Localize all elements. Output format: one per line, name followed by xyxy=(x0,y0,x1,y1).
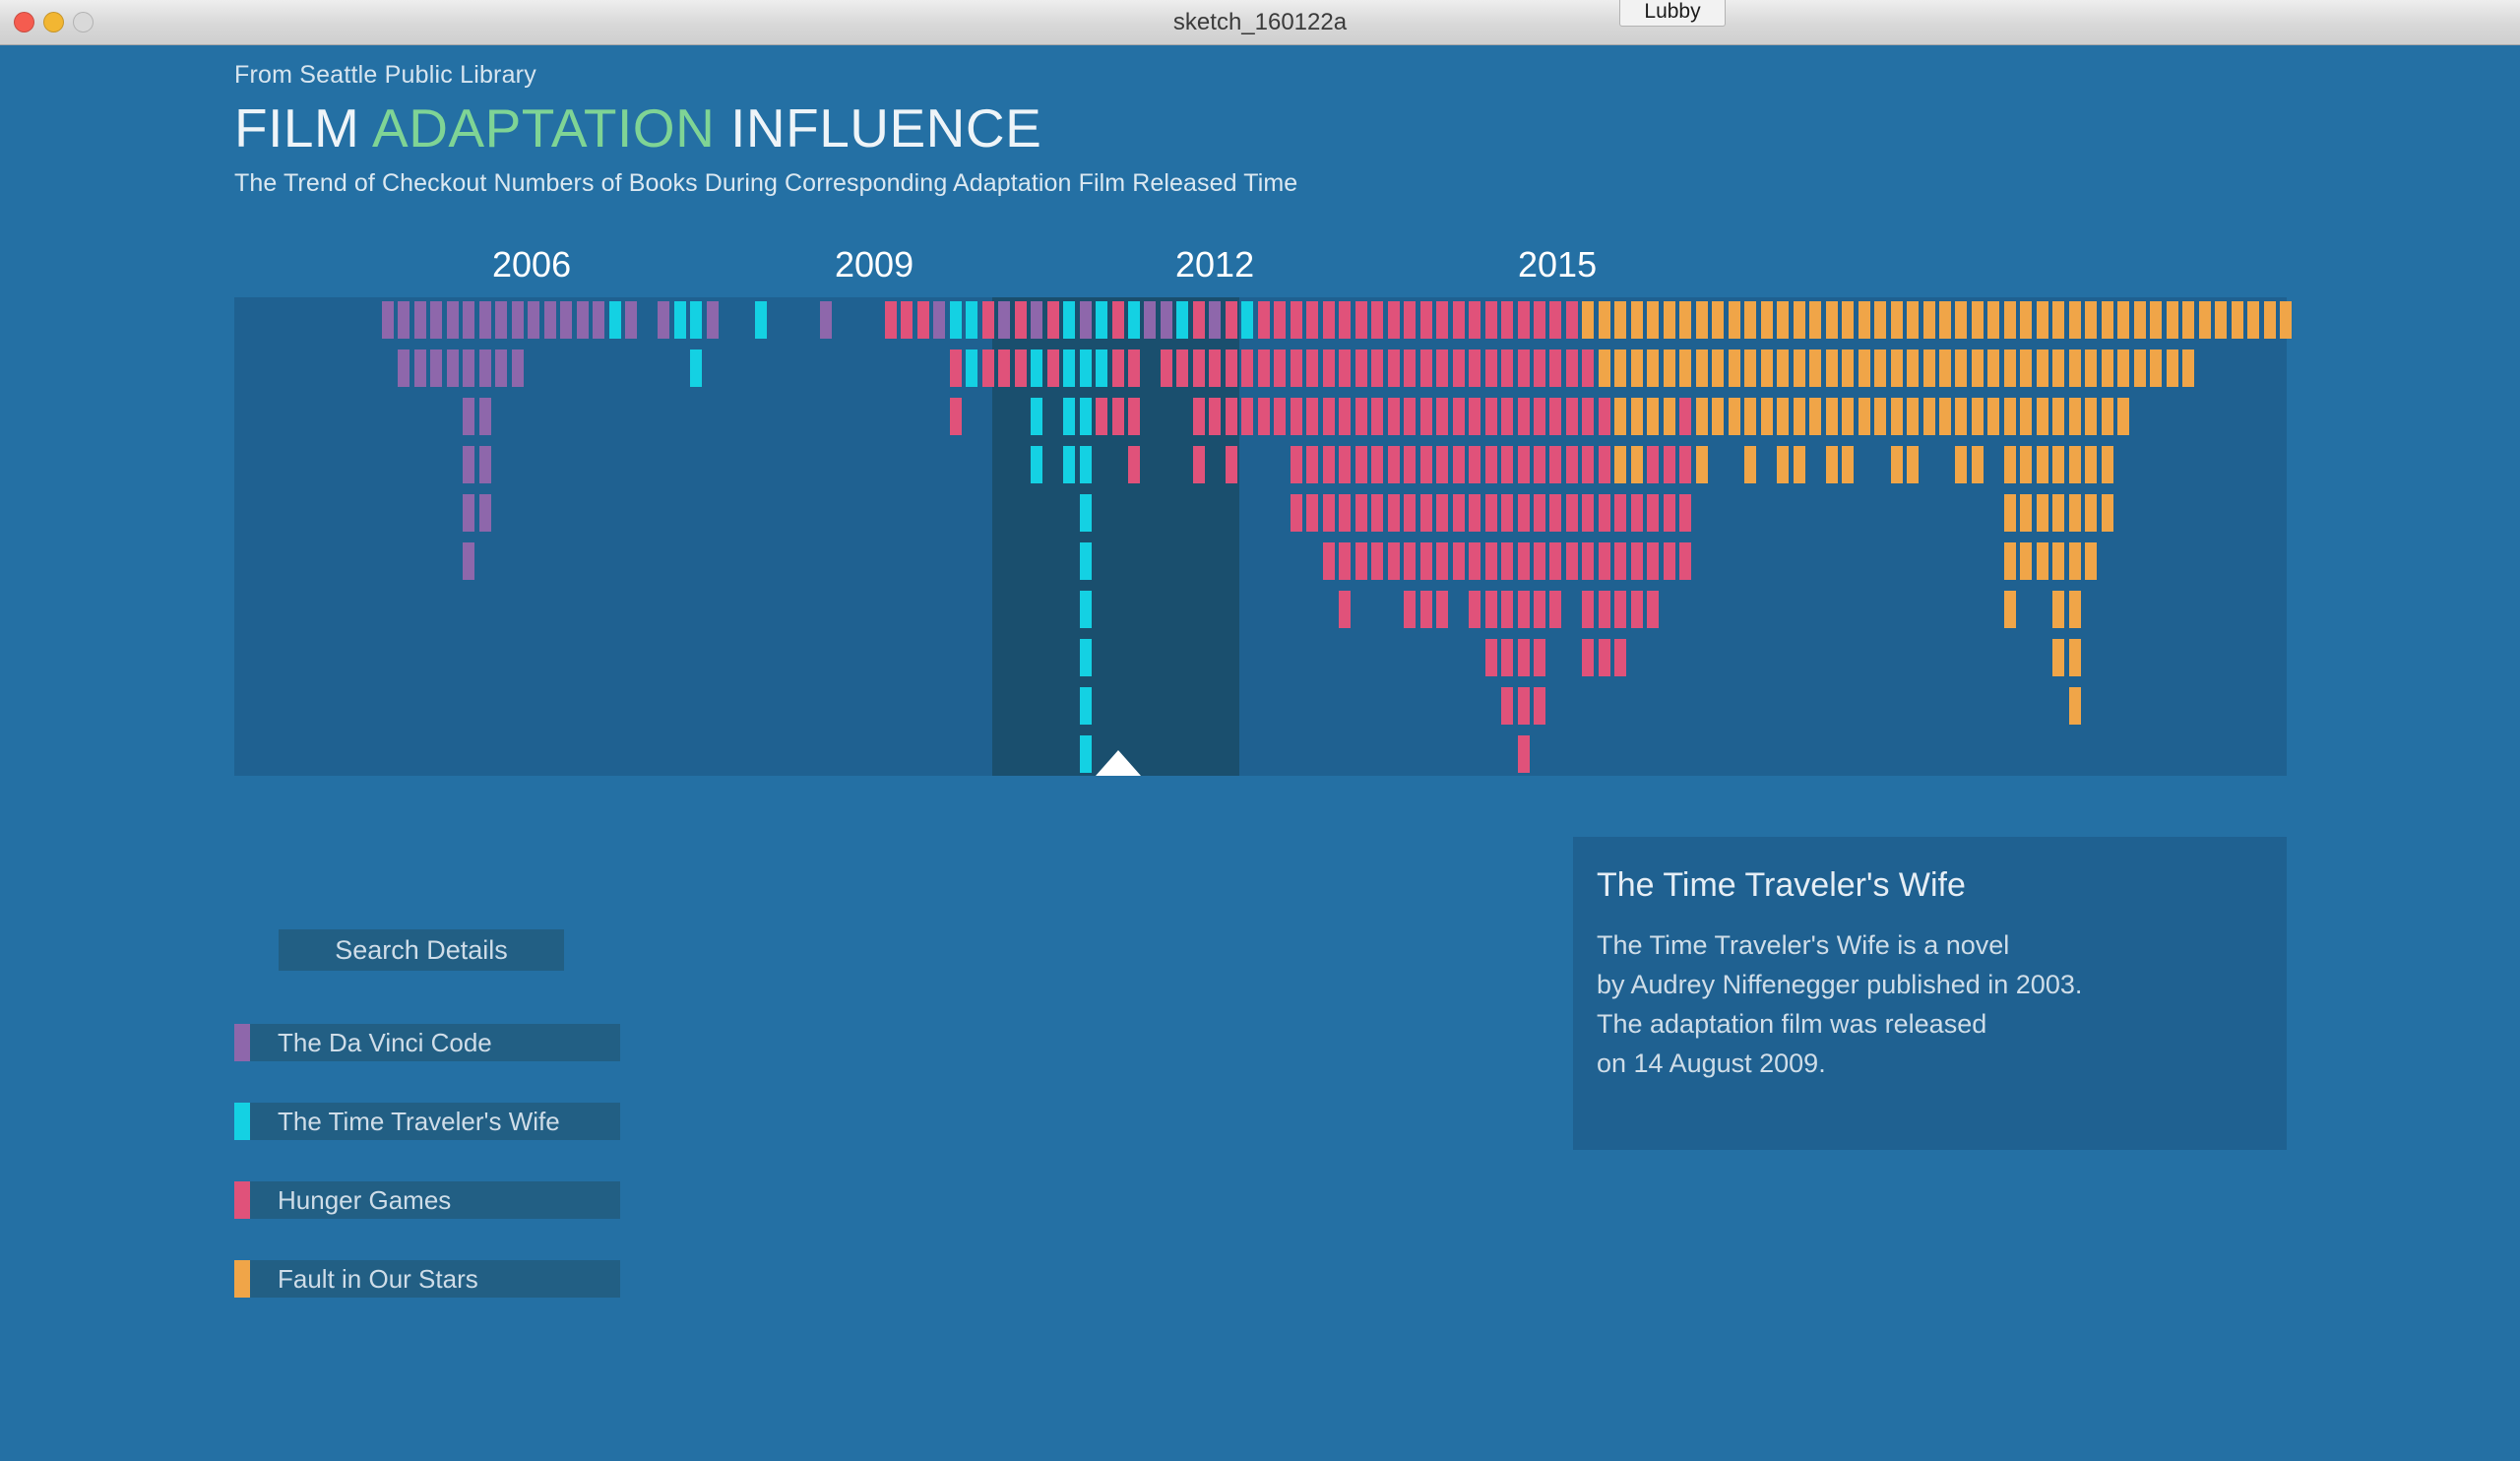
bar-segment xyxy=(1842,301,1854,339)
bar-segment xyxy=(1080,542,1092,580)
search-details-button[interactable]: Search Details xyxy=(279,929,564,971)
bar-segment xyxy=(1647,301,1659,339)
bar-segment xyxy=(1080,735,1092,773)
bar-segment xyxy=(1664,542,1675,580)
bar-segment xyxy=(1193,301,1205,339)
bar-segment xyxy=(1631,349,1643,387)
year-tick-2015: 2015 xyxy=(1518,244,1597,286)
bar-segment xyxy=(1274,398,1286,435)
bar-segment xyxy=(1647,542,1659,580)
bar-segment xyxy=(690,301,702,339)
bar-segment xyxy=(1339,349,1351,387)
bar-segment xyxy=(1582,301,1594,339)
bar-segment xyxy=(1582,494,1594,532)
bar-segment xyxy=(1614,639,1626,676)
bar-segment xyxy=(1842,446,1854,483)
bar-segment xyxy=(447,349,459,387)
bar-segment xyxy=(1972,301,1984,339)
bar-segment xyxy=(1404,542,1416,580)
bar-segment xyxy=(1518,398,1530,435)
bar-segment xyxy=(1647,446,1659,483)
bar-segment xyxy=(2117,301,2129,339)
bar-segment xyxy=(1534,398,1545,435)
bar-segment xyxy=(1436,591,1448,628)
bar-segment xyxy=(1323,301,1335,339)
book-info-body: The Time Traveler's Wife is a novel by A… xyxy=(1597,925,2082,1083)
bar-segment xyxy=(1729,398,1740,435)
bar-segment xyxy=(1744,398,1756,435)
bar-segment xyxy=(1518,639,1530,676)
bar-segment xyxy=(1485,639,1497,676)
bar-segment xyxy=(1485,398,1497,435)
bar-segment xyxy=(1404,398,1416,435)
bar-segment xyxy=(1209,349,1221,387)
bar-segment xyxy=(1972,349,1984,387)
bar-segment xyxy=(1469,349,1480,387)
bar-segment xyxy=(1777,301,1789,339)
bar-segment xyxy=(1404,301,1416,339)
page-subtitle: The Trend of Checkout Numbers of Books D… xyxy=(234,169,1297,198)
bar-segment xyxy=(901,301,913,339)
bar-segment xyxy=(1549,494,1561,532)
bar-segment xyxy=(2069,349,2081,387)
bar-segment xyxy=(1647,591,1659,628)
bar-segment xyxy=(382,301,394,339)
bar-segment xyxy=(1306,494,1318,532)
bar-segment xyxy=(1582,398,1594,435)
bar-segment xyxy=(1599,446,1610,483)
bar-segment xyxy=(1534,301,1545,339)
legend-item-hunger-games[interactable]: Hunger Games xyxy=(234,1181,628,1219)
bar-segment xyxy=(1987,301,1999,339)
bar-segment xyxy=(1388,301,1400,339)
bar-segment xyxy=(1761,301,1773,339)
bar-segment xyxy=(1404,446,1416,483)
bar-segment xyxy=(982,301,994,339)
bar-segment xyxy=(1209,398,1221,435)
bar-segment xyxy=(1420,591,1432,628)
bar-segment xyxy=(1323,398,1335,435)
bar-segment xyxy=(1777,446,1789,483)
bar-segment xyxy=(1566,301,1578,339)
bar-segment xyxy=(1031,349,1042,387)
bar-segment xyxy=(1566,398,1578,435)
bar-segment xyxy=(1858,349,1870,387)
bar-segment xyxy=(950,398,962,435)
bar-segment xyxy=(414,301,426,339)
bar-segment xyxy=(414,349,426,387)
bar-segment xyxy=(2117,398,2129,435)
page-header: From Seattle Public Library FILM ADAPTAT… xyxy=(234,61,1297,198)
bar-segment xyxy=(1939,349,1951,387)
legend-item-da-vinci-code[interactable]: The Da Vinci Code xyxy=(234,1024,628,1061)
bar-segment xyxy=(2102,301,2113,339)
bar-segment xyxy=(2004,542,2016,580)
bar-segment xyxy=(495,349,507,387)
legend-swatch-time-travelers-wife xyxy=(234,1103,250,1140)
legend-label-da-vinci-code: The Da Vinci Code xyxy=(278,1024,492,1061)
bar-segment xyxy=(1436,494,1448,532)
bar-segment xyxy=(1226,446,1237,483)
bar-segment xyxy=(1907,301,1919,339)
bar-segment xyxy=(1388,349,1400,387)
bar-segment xyxy=(1453,349,1465,387)
bar-segment xyxy=(1939,301,1951,339)
bar-segment xyxy=(1647,494,1659,532)
bar-segment xyxy=(1972,446,1984,483)
bar-segment xyxy=(2085,301,2097,339)
bar-segment xyxy=(1485,494,1497,532)
bar-segment xyxy=(447,301,459,339)
bar-segment xyxy=(1826,398,1838,435)
bar-segment xyxy=(430,301,442,339)
bar-segment xyxy=(2150,301,2162,339)
bar-segment xyxy=(1631,398,1643,435)
bar-segment xyxy=(2052,639,2064,676)
bar-segment xyxy=(1549,542,1561,580)
bar-segment xyxy=(1112,349,1124,387)
bar-segment xyxy=(1015,349,1027,387)
bar-segment xyxy=(1063,301,1075,339)
bar-segment xyxy=(1469,591,1480,628)
bar-segment xyxy=(1955,446,1967,483)
bar-segment xyxy=(1858,398,1870,435)
bar-segment xyxy=(1534,687,1545,725)
bar-segment xyxy=(1664,349,1675,387)
bar-segment xyxy=(933,301,945,339)
bar-segment xyxy=(658,301,669,339)
bar-segment xyxy=(1534,639,1545,676)
bar-segment xyxy=(1549,591,1561,628)
bar-segment xyxy=(1696,446,1708,483)
selection-marker-triangle xyxy=(1096,750,1141,776)
bar-segment xyxy=(1339,494,1351,532)
bar-segment xyxy=(1306,301,1318,339)
bar-segment xyxy=(479,494,491,532)
bar-segment xyxy=(1339,446,1351,483)
bar-segment xyxy=(1566,446,1578,483)
bar-segment xyxy=(2280,301,2292,339)
bar-segment xyxy=(1404,591,1416,628)
bar-segment xyxy=(1291,398,1302,435)
bar-segment xyxy=(1420,301,1432,339)
bar-segment xyxy=(1063,349,1075,387)
bar-segment xyxy=(463,446,474,483)
bar-segment xyxy=(1549,446,1561,483)
bar-segment xyxy=(1112,398,1124,435)
bar-segment xyxy=(2052,301,2064,339)
bar-segment xyxy=(1809,301,1821,339)
bar-segment xyxy=(1582,542,1594,580)
bar-segment xyxy=(1744,446,1756,483)
bar-segment xyxy=(1891,349,1903,387)
bar-segment xyxy=(1453,446,1465,483)
bar-segment xyxy=(625,301,637,339)
bar-segment xyxy=(2052,349,2064,387)
bar-segment xyxy=(1501,301,1513,339)
bar-segment xyxy=(1907,349,1919,387)
bar-segment xyxy=(1388,446,1400,483)
bar-segment xyxy=(1549,349,1561,387)
bar-segment xyxy=(1096,349,1107,387)
bar-segment xyxy=(1518,735,1530,773)
bar-segment xyxy=(1549,301,1561,339)
bar-segment xyxy=(1907,446,1919,483)
bar-segment xyxy=(1420,349,1432,387)
bar-segment xyxy=(2020,542,2032,580)
bar-segment xyxy=(1614,398,1626,435)
bar-segment xyxy=(1664,446,1675,483)
bar-segment xyxy=(560,301,572,339)
bar-segment xyxy=(1518,591,1530,628)
bar-segment xyxy=(1420,542,1432,580)
bar-segment xyxy=(1080,591,1092,628)
title-part-2: INFLUENCE xyxy=(715,97,1041,159)
bar-segment xyxy=(1599,591,1610,628)
bar-segment xyxy=(1080,639,1092,676)
title-accent: ADAPTATION xyxy=(372,97,715,159)
bar-segment xyxy=(1209,301,1221,339)
bar-segment xyxy=(512,349,524,387)
bar-segment xyxy=(2069,591,2081,628)
bar-segment xyxy=(1485,301,1497,339)
bar-segment xyxy=(1631,591,1643,628)
bar-segment xyxy=(1469,494,1480,532)
bar-segment xyxy=(2182,349,2194,387)
bar-segment xyxy=(1306,349,1318,387)
bar-segment xyxy=(1306,446,1318,483)
bar-segment xyxy=(1955,301,1967,339)
bar-segment xyxy=(1858,301,1870,339)
bar-segment xyxy=(1485,446,1497,483)
bar-segment xyxy=(463,542,474,580)
bar-segment xyxy=(1874,349,1886,387)
legend-swatch-da-vinci-code xyxy=(234,1024,250,1061)
bar-segment xyxy=(1128,398,1140,435)
bar-segment xyxy=(2134,349,2146,387)
bar-segment xyxy=(2020,494,2032,532)
bar-segment xyxy=(950,349,962,387)
bar-segment xyxy=(2102,494,2113,532)
bar-segment xyxy=(1226,301,1237,339)
bar-segment xyxy=(1679,542,1691,580)
bar-segment xyxy=(1955,349,1967,387)
bar-segment xyxy=(1761,398,1773,435)
bar-segment xyxy=(1258,301,1270,339)
bar-segment xyxy=(998,301,1010,339)
bar-segment xyxy=(1534,446,1545,483)
bar-segment xyxy=(2085,494,2097,532)
bar-segment xyxy=(1193,446,1205,483)
bar-segment xyxy=(1534,494,1545,532)
bar-segment xyxy=(1826,301,1838,339)
bar-segment xyxy=(1096,398,1107,435)
bar-segment xyxy=(1972,398,1984,435)
bar-segment xyxy=(2134,301,2146,339)
bar-segment xyxy=(1161,301,1172,339)
bar-segment xyxy=(1501,446,1513,483)
bar-segment xyxy=(1436,398,1448,435)
bar-segment xyxy=(998,349,1010,387)
bar-segment xyxy=(1144,301,1156,339)
bar-segment xyxy=(1566,494,1578,532)
legend-swatch-fault-in-our-stars xyxy=(234,1260,250,1298)
bar-segment xyxy=(1566,349,1578,387)
lubby-tab[interactable]: Lubby xyxy=(1619,0,1726,27)
bar-segment xyxy=(1891,398,1903,435)
bar-segment xyxy=(1534,542,1545,580)
bar-segment xyxy=(1631,542,1643,580)
bar-segment xyxy=(1355,398,1367,435)
bar-segment xyxy=(1485,349,1497,387)
bar-segment xyxy=(1323,349,1335,387)
bar-segment xyxy=(1712,398,1724,435)
bar-segment xyxy=(1128,446,1140,483)
bar-segment xyxy=(1907,398,1919,435)
bar-segment xyxy=(1729,301,1740,339)
year-axis: 2006200920122015 xyxy=(234,244,2287,293)
bar-segment xyxy=(1891,446,1903,483)
bar-segment xyxy=(1241,398,1253,435)
bar-segment xyxy=(1939,398,1951,435)
bar-segment xyxy=(1501,687,1513,725)
bar-segment xyxy=(2150,349,2162,387)
bar-segment xyxy=(1291,446,1302,483)
bar-segment xyxy=(1436,542,1448,580)
bar-segment xyxy=(1258,398,1270,435)
bar-segment xyxy=(2069,639,2081,676)
bar-segment xyxy=(2069,494,2081,532)
bar-segment xyxy=(1501,494,1513,532)
bar-segment xyxy=(1436,301,1448,339)
bar-segment xyxy=(463,494,474,532)
bar-segment xyxy=(1777,349,1789,387)
bar-segment xyxy=(2117,349,2129,387)
bar-segment xyxy=(1339,542,1351,580)
bar-segment xyxy=(1176,301,1188,339)
bar-segment xyxy=(1647,398,1659,435)
bar-segment xyxy=(479,349,491,387)
bar-segment xyxy=(1485,542,1497,580)
bar-segment xyxy=(2004,494,2016,532)
bar-segment xyxy=(2069,301,2081,339)
bar-segment xyxy=(1128,349,1140,387)
bar-segment xyxy=(1761,349,1773,387)
bar-segment xyxy=(1355,542,1367,580)
bar-segment xyxy=(1826,446,1838,483)
bar-segment xyxy=(2052,494,2064,532)
bar-segment xyxy=(2085,446,2097,483)
bar-segment xyxy=(2004,446,2016,483)
bar-segment xyxy=(1323,494,1335,532)
bar-segment xyxy=(1355,349,1367,387)
timeline-chart[interactable] xyxy=(234,297,2287,776)
title-part-1: FILM xyxy=(234,97,372,159)
bar-segment xyxy=(1696,349,1708,387)
bar-segment xyxy=(1193,398,1205,435)
bar-segment xyxy=(1355,446,1367,483)
bar-segment xyxy=(1015,301,1027,339)
year-tick-2009: 2009 xyxy=(835,244,913,286)
bar-segment xyxy=(1534,349,1545,387)
legend-label-hunger-games: Hunger Games xyxy=(278,1181,451,1219)
bar-segment xyxy=(1566,542,1578,580)
bar-segment xyxy=(755,301,767,339)
bar-segment xyxy=(1614,301,1626,339)
bar-segment xyxy=(1987,349,1999,387)
bar-segment xyxy=(2069,446,2081,483)
bar-segment xyxy=(1080,446,1092,483)
bar-segment xyxy=(1582,591,1594,628)
bar-segment xyxy=(1501,591,1513,628)
bar-segment xyxy=(1291,349,1302,387)
bar-segment xyxy=(1679,301,1691,339)
bar-segment xyxy=(1744,301,1756,339)
bar-segment xyxy=(1664,301,1675,339)
bar-segment xyxy=(1599,639,1610,676)
bar-segment xyxy=(1436,446,1448,483)
legend-item-fault-in-our-stars[interactable]: Fault in Our Stars xyxy=(234,1260,628,1298)
legend-label-fault-in-our-stars: Fault in Our Stars xyxy=(278,1260,478,1298)
legend-label-time-travelers-wife: The Time Traveler's Wife xyxy=(278,1103,560,1140)
bar-segment xyxy=(2232,301,2243,339)
bar-segment xyxy=(528,301,539,339)
bar-segment xyxy=(1306,398,1318,435)
bar-segment xyxy=(1501,639,1513,676)
bar-segment xyxy=(966,301,977,339)
bar-segment xyxy=(463,301,474,339)
bar-segment xyxy=(1339,301,1351,339)
bar-segment xyxy=(1371,542,1383,580)
bar-segment xyxy=(1501,542,1513,580)
bar-segment xyxy=(917,301,929,339)
bar-segment xyxy=(1518,542,1530,580)
bar-segment xyxy=(1696,398,1708,435)
bar-segment xyxy=(1404,349,1416,387)
legend-item-time-travelers-wife[interactable]: The Time Traveler's Wife xyxy=(234,1103,628,1140)
bar-segment xyxy=(1631,301,1643,339)
bar-segment xyxy=(1696,301,1708,339)
bar-segment xyxy=(544,301,556,339)
bar-segment xyxy=(2085,398,2097,435)
bar-segment xyxy=(1599,398,1610,435)
bar-segment xyxy=(1582,639,1594,676)
bar-segment xyxy=(1388,398,1400,435)
bar-segment xyxy=(1047,349,1059,387)
bar-segment xyxy=(2052,446,2064,483)
bar-segment xyxy=(674,301,686,339)
bar-segment xyxy=(1453,494,1465,532)
page-title: FILM ADAPTATION INFLUENCE xyxy=(234,96,1297,159)
bar-segment xyxy=(1664,398,1675,435)
bar-segment xyxy=(1420,494,1432,532)
bar-segment xyxy=(593,301,604,339)
bar-segment xyxy=(690,349,702,387)
bar-segment xyxy=(2037,301,2048,339)
bar-segment xyxy=(2102,349,2113,387)
bar-segment xyxy=(2069,542,2081,580)
bar-segment xyxy=(577,301,589,339)
bar-segment xyxy=(2085,349,2097,387)
bar-segment xyxy=(2167,349,2178,387)
bar-segment xyxy=(1226,398,1237,435)
bar-segment xyxy=(430,349,442,387)
bar-segment xyxy=(1955,398,1967,435)
bar-segment xyxy=(1241,349,1253,387)
bar-segment xyxy=(1809,349,1821,387)
bar-segment xyxy=(1712,349,1724,387)
bar-segment xyxy=(2247,301,2259,339)
